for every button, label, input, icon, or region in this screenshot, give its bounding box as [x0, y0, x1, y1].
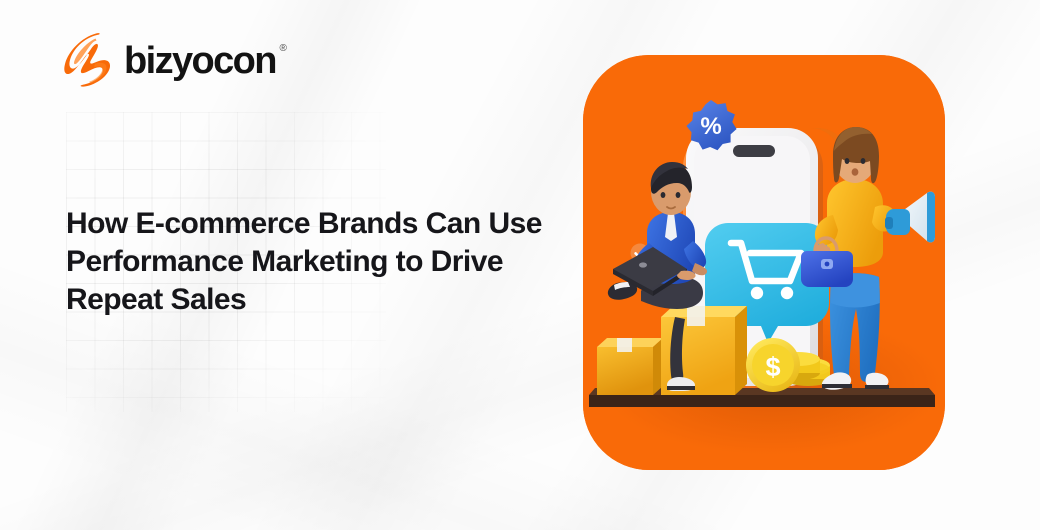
svg-text:$: $ [765, 352, 780, 382]
ecommerce-illustration: % [583, 55, 945, 470]
hero-illustration: % [583, 55, 945, 470]
svg-text:%: % [700, 113, 721, 140]
brand-logo[interactable]: bizyocon® [64, 33, 276, 89]
brushstroke-b-icon [64, 33, 116, 89]
registered-trademark-icon: ® [280, 44, 287, 54]
brand-wordmark-text: bizyocon [124, 40, 276, 82]
blog-banner: bizyocon® How E-commerce Brands Can Use … [0, 0, 1040, 530]
brand-wordmark: bizyocon® [124, 42, 276, 80]
page-title: How E-commerce Brands Can Use Performanc… [66, 205, 566, 318]
